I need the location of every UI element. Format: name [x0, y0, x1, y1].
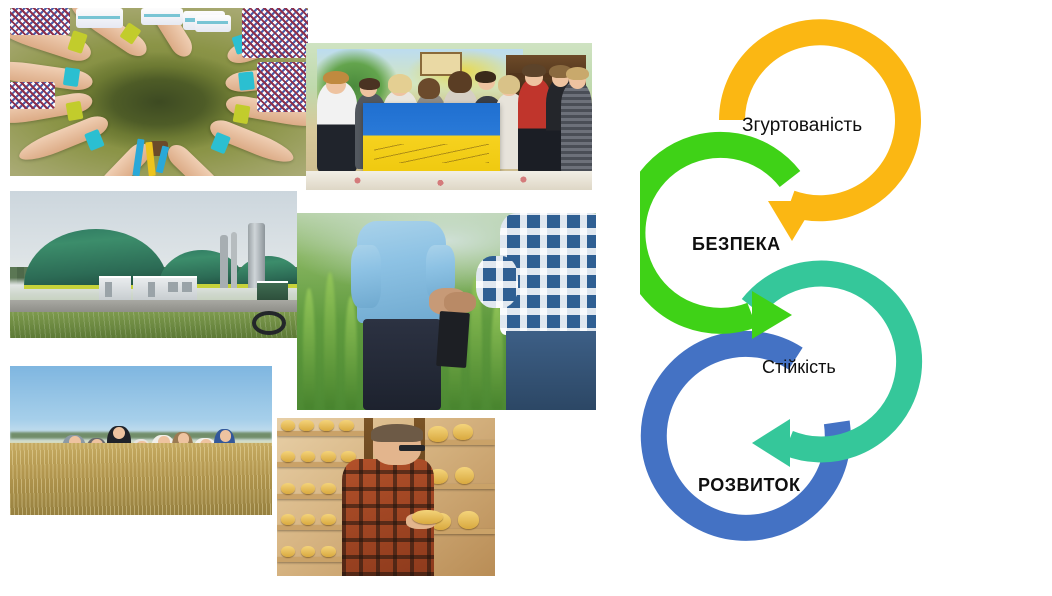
cycle-label-resilience: Стійкість [762, 357, 836, 378]
photo-biogas-plant [10, 191, 297, 338]
cycle-label-cohesion: Згуртованість [742, 115, 862, 137]
slide-canvas: Згуртованість БЕЗПЕКА Стійкість РОЗВИТОК [0, 0, 1052, 596]
photo-youth-wheatfield [10, 366, 272, 515]
photo-teens-flag [306, 43, 592, 190]
cycle-label-development: РОЗВИТОК [698, 475, 801, 496]
cycle-label-security: БЕЗПЕКА [692, 234, 781, 255]
photo-cheesemaker [277, 418, 495, 576]
photo-handshake-field [297, 213, 596, 410]
four-stage-cycle-diagram: Згуртованість БЕЗПЕКА Стійкість РОЗВИТОК [640, 15, 1040, 575]
photo-hands-circle [10, 8, 308, 176]
cycle-arrowhead-resilience [752, 419, 790, 467]
